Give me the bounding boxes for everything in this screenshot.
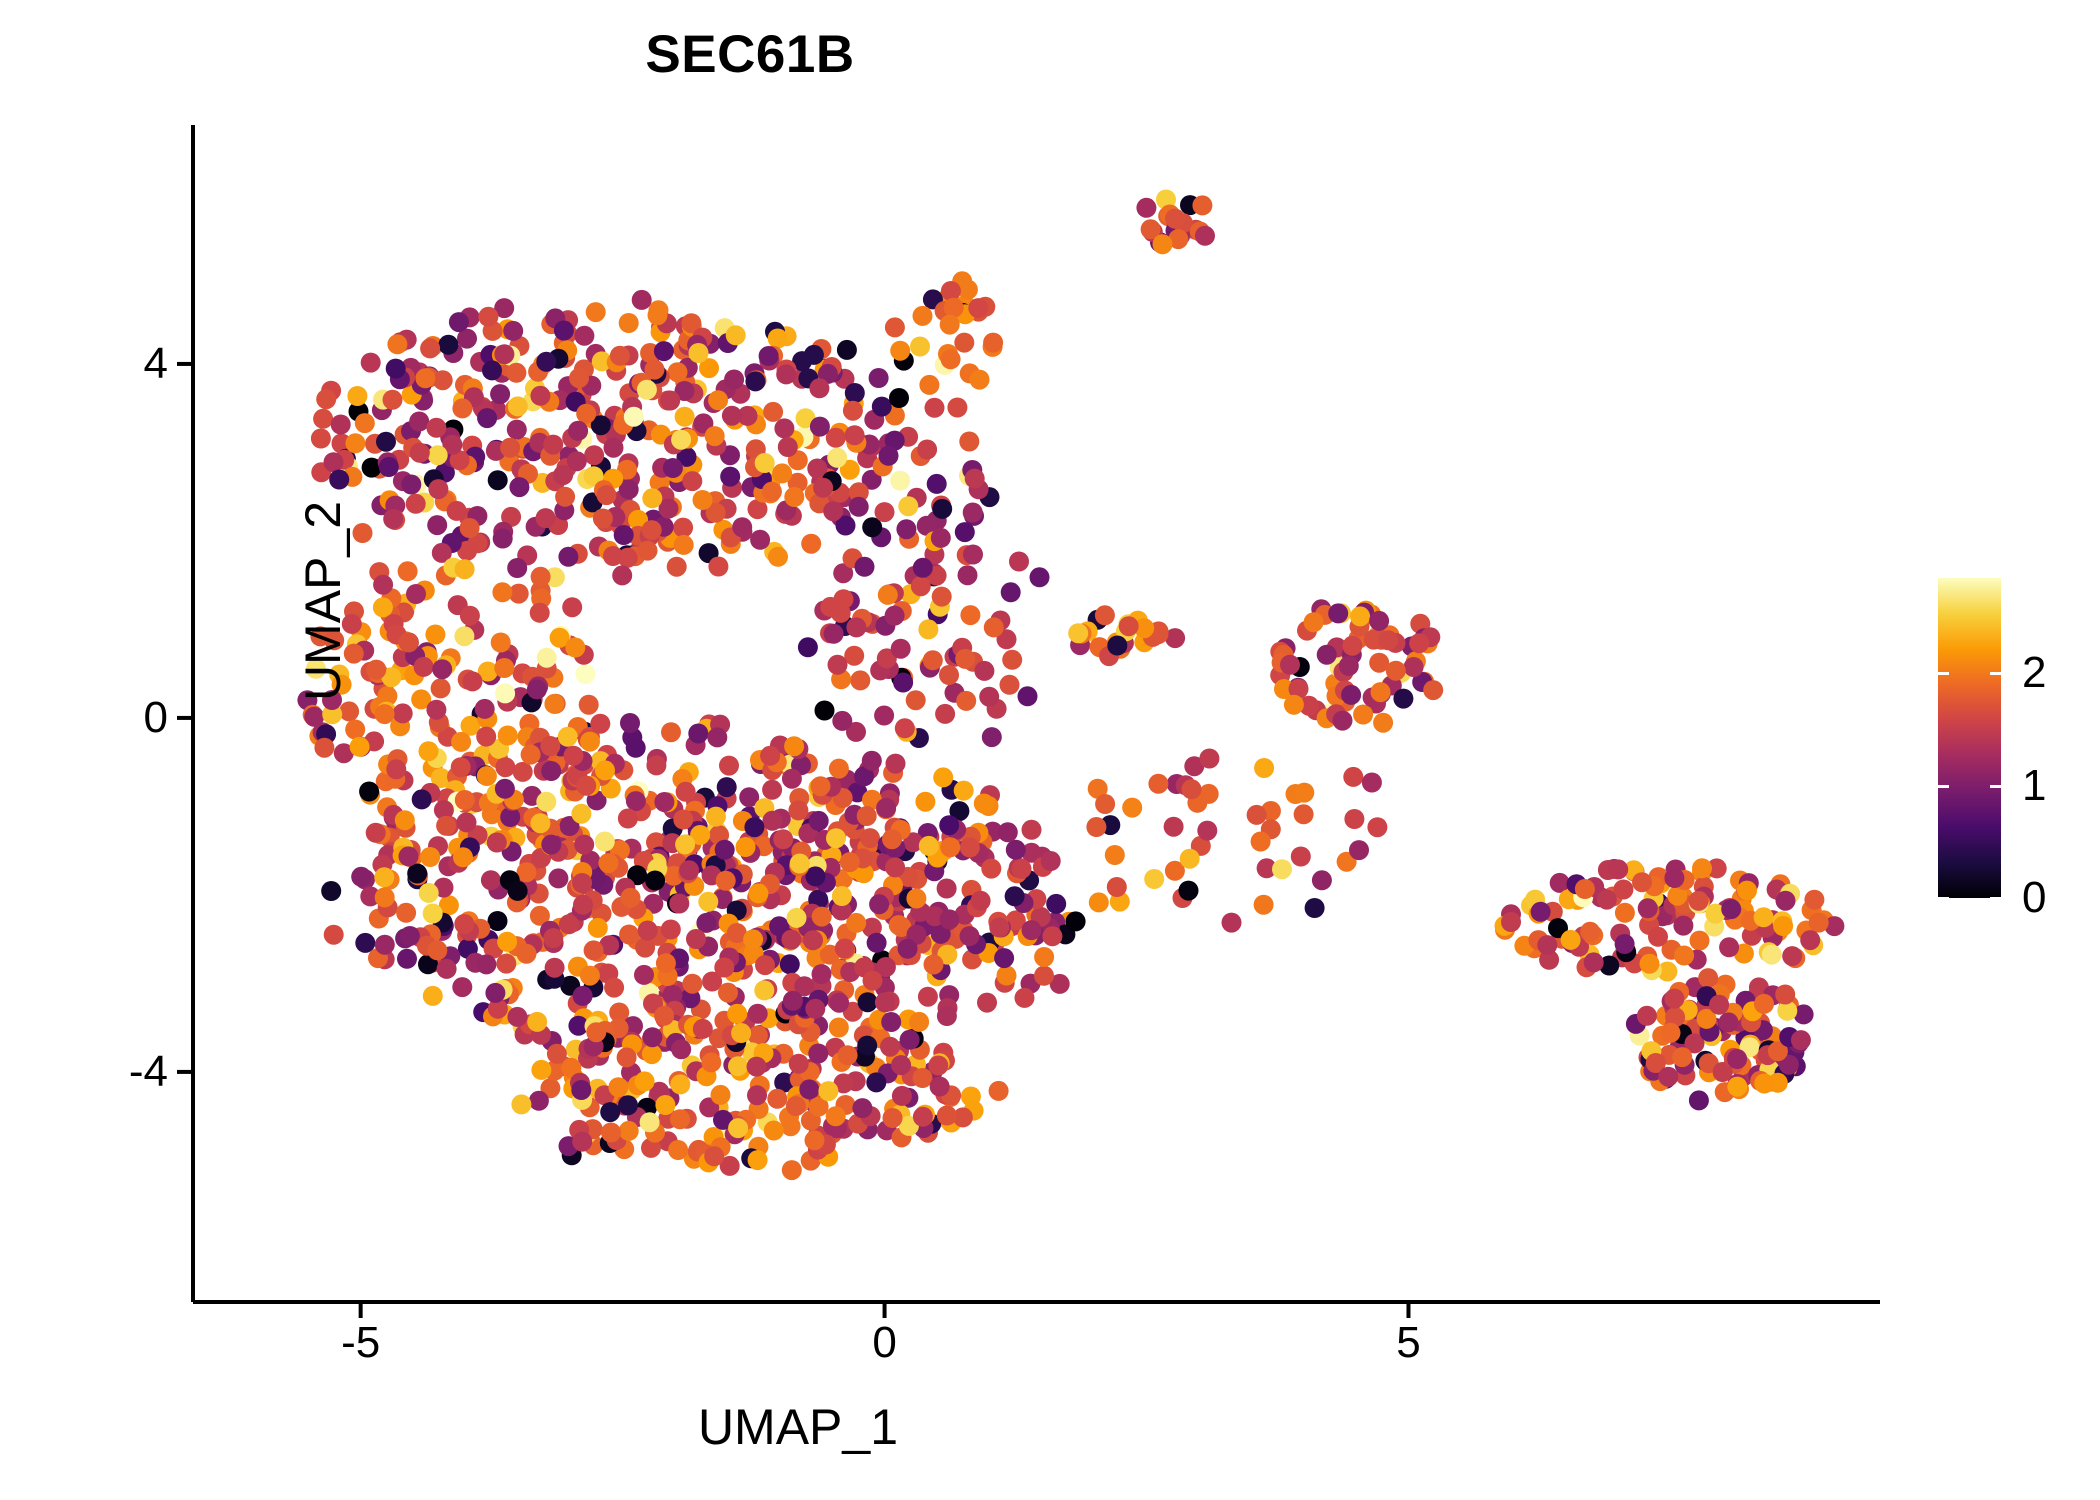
scatter-point <box>593 509 613 529</box>
scatter-point <box>530 603 550 623</box>
scatter-point <box>601 1123 621 1143</box>
scatter-point <box>954 333 974 353</box>
scatter-point <box>768 547 788 567</box>
scatter-point <box>782 1160 802 1180</box>
scatter-point <box>375 935 395 955</box>
scatter-point <box>1312 870 1332 890</box>
scatter-point <box>845 383 865 403</box>
scatter-point <box>862 751 882 771</box>
scatter-point <box>1086 817 1106 837</box>
scatter-point <box>517 944 537 964</box>
scatter-point <box>452 398 472 418</box>
scatter-point <box>1664 868 1684 888</box>
scatter-point <box>1022 820 1042 840</box>
scatter-point <box>781 930 801 950</box>
scatter-point <box>1015 988 1035 1008</box>
scatter-point <box>423 986 443 1006</box>
scatter-point <box>937 879 957 899</box>
scatter-point <box>939 665 959 685</box>
scatter-point <box>1000 675 1020 695</box>
scatter-point <box>477 766 497 786</box>
scatter-point <box>767 1089 787 1109</box>
scatter-point <box>1165 209 1185 229</box>
scatter-point <box>1353 705 1373 725</box>
scatter-point <box>423 904 443 924</box>
scatter-point <box>832 711 852 731</box>
scatter-point <box>1107 636 1127 656</box>
scatter-point <box>714 958 734 978</box>
scatter-point <box>955 522 975 542</box>
scatter-point <box>494 344 514 364</box>
scatter-point <box>818 1081 838 1101</box>
scatter-point <box>989 1081 1009 1101</box>
scatter-point <box>383 509 403 529</box>
y-tick-label-1: 0 <box>144 693 168 743</box>
scatter-point <box>1637 1006 1657 1026</box>
scatter-point <box>1608 859 1628 879</box>
scatter-point <box>670 1074 690 1094</box>
scatter-point <box>428 479 448 499</box>
scatter-point <box>893 673 913 693</box>
scatter-point <box>569 368 589 388</box>
scatter-point <box>1719 1012 1739 1032</box>
scatter-point <box>812 964 832 984</box>
scatter-point <box>1640 954 1660 974</box>
scatter-point <box>670 1109 690 1129</box>
scatter-point <box>668 1140 688 1160</box>
scatter-point <box>1690 931 1710 951</box>
scatter-point <box>366 823 386 843</box>
scatter-point <box>1800 930 1820 950</box>
scatter-point <box>693 1019 713 1039</box>
scatter-point <box>885 317 905 337</box>
scatter-point <box>1737 881 1757 901</box>
scatter-point <box>783 991 803 1011</box>
scatter-point <box>886 754 906 774</box>
scatter-point <box>508 396 528 416</box>
scatter-point <box>693 490 713 510</box>
scatter-point <box>619 313 639 333</box>
scatter-point <box>963 503 983 523</box>
scatter-point <box>778 437 798 457</box>
scatter-point <box>426 700 446 720</box>
scatter-point <box>536 792 556 812</box>
scatter-point <box>811 776 831 796</box>
scatter-point <box>1754 1074 1774 1094</box>
scatter-point <box>511 1094 531 1114</box>
scatter-point <box>717 777 737 797</box>
scatter-point <box>910 337 930 357</box>
scatter-point <box>1367 817 1387 837</box>
scatter-point <box>686 929 706 949</box>
scatter-point <box>1291 847 1311 867</box>
scatter-point <box>604 978 624 998</box>
scatter-point <box>386 359 406 379</box>
scatter-point <box>1661 1023 1681 1043</box>
scatter-point <box>858 992 878 1012</box>
y-axis-label: UMAP_2 <box>294 26 352 1176</box>
scatter-point <box>401 475 421 495</box>
scatter-point <box>1561 930 1581 950</box>
scatter-point <box>829 993 849 1013</box>
scatter-point <box>543 435 563 455</box>
scatter-point <box>983 333 1003 353</box>
scatter-point <box>915 792 935 812</box>
scatter-point <box>614 525 634 545</box>
scatter-point <box>1632 872 1652 892</box>
scatter-point <box>801 534 821 554</box>
scatter-point <box>1182 779 1202 799</box>
scatter-point <box>773 829 793 849</box>
scatter-point <box>398 561 418 581</box>
scatter-point <box>1317 645 1337 665</box>
scatter-point <box>708 390 728 410</box>
scatter-point <box>663 458 683 478</box>
scatter-point <box>584 940 604 960</box>
scatter-point <box>634 965 654 985</box>
legend-tick-label-2: 2 <box>2022 648 2046 698</box>
scatter-point <box>485 983 505 1003</box>
scatter-point <box>375 704 395 724</box>
scatter-point <box>351 867 371 887</box>
scatter-point <box>784 487 804 507</box>
scatter-point <box>1692 858 1712 878</box>
scatter-point <box>981 859 1001 879</box>
scatter-point <box>880 1037 900 1057</box>
scatter-point <box>457 812 477 832</box>
scatter-point <box>454 626 474 646</box>
scatter-point <box>492 582 512 602</box>
scatter-point <box>982 727 1002 747</box>
scatter-point <box>1791 1030 1811 1050</box>
scatter-point <box>598 853 618 873</box>
scatter-point <box>1673 916 1693 936</box>
scatter-point <box>715 840 735 860</box>
scatter-point <box>1009 552 1029 572</box>
scatter-point <box>1005 886 1025 906</box>
scatter-point <box>1776 891 1796 911</box>
scatter-point <box>432 659 452 679</box>
scatter-point <box>1727 1077 1747 1097</box>
scatter-point <box>558 547 578 567</box>
scatter-point <box>455 559 475 579</box>
scatter-point <box>580 732 600 752</box>
scatter-point <box>574 326 594 346</box>
scatter-point <box>555 487 575 507</box>
scatter-point <box>576 404 596 424</box>
scatter-point <box>1409 633 1429 653</box>
scatter-point <box>414 657 434 677</box>
scatter-point <box>728 1056 748 1076</box>
scatter-point <box>497 932 517 952</box>
scatter-point <box>1754 907 1774 927</box>
scatter-point <box>527 1012 547 1032</box>
scatter-point <box>406 494 426 514</box>
scatter-point <box>885 857 905 877</box>
scatter-point <box>772 463 792 483</box>
scatter-point <box>1393 689 1413 709</box>
scatter-point <box>849 497 869 517</box>
scatter-point <box>928 1056 948 1076</box>
scatter-point <box>924 955 944 975</box>
scatter-point <box>931 528 951 548</box>
scatter-point <box>1369 611 1389 631</box>
scatter-point <box>476 727 496 747</box>
scatter-point <box>350 737 370 757</box>
scatter-point <box>562 597 582 617</box>
scatter-point <box>829 1018 849 1038</box>
scatter-point <box>452 977 472 997</box>
scatter-point <box>829 759 849 779</box>
scatter-point <box>558 727 578 747</box>
scatter-point <box>541 761 561 781</box>
scatter-point <box>803 930 823 950</box>
scatter-point <box>998 822 1018 842</box>
scatter-point <box>547 1044 567 1064</box>
scatter-point <box>621 888 641 908</box>
scatter-point <box>654 792 674 812</box>
scatter-point <box>638 921 658 941</box>
scatter-point <box>1068 623 1088 643</box>
scatter-point <box>588 918 608 938</box>
scatter-point <box>656 953 676 973</box>
scatter-point <box>1648 927 1668 947</box>
scatter-point <box>755 453 775 473</box>
scatter-point <box>642 488 662 508</box>
scatter-point <box>845 425 865 445</box>
scatter-point <box>1349 840 1369 860</box>
scatter-point <box>355 413 375 433</box>
scatter-point <box>788 800 808 820</box>
scatter-point <box>575 664 595 684</box>
scatter-point <box>399 846 419 866</box>
scatter-point <box>1030 567 1050 587</box>
scatter-point <box>707 727 727 747</box>
scatter-point <box>1333 711 1353 731</box>
scatter-point <box>762 811 782 831</box>
scatter-point <box>642 1027 662 1047</box>
scatter-point <box>626 738 646 758</box>
scatter-point <box>1034 966 1054 986</box>
x-tick-label-0: -5 <box>341 1318 380 1368</box>
scatter-point <box>958 280 978 300</box>
scatter-point <box>488 911 508 931</box>
scatter-point <box>433 370 453 390</box>
scatter-point <box>487 833 507 853</box>
scatter-point <box>932 587 952 607</box>
scatter-point <box>958 565 978 585</box>
scatter-point <box>810 417 830 437</box>
scatter-point <box>576 776 596 796</box>
x-axis-label: UMAP_1 <box>193 1398 1403 1456</box>
scatter-point <box>823 501 843 521</box>
scatter-point <box>892 1086 912 1106</box>
scatter-point <box>661 722 681 742</box>
scatter-point <box>935 704 955 724</box>
scatter-point <box>671 1039 691 1059</box>
scatter-point <box>1698 968 1718 988</box>
scatter-point <box>891 639 911 659</box>
scatter-point <box>1613 880 1633 900</box>
scatter-point <box>863 971 883 991</box>
scatter-point <box>419 883 439 903</box>
scatter-point <box>427 940 447 960</box>
scatter-point <box>1254 758 1274 778</box>
scatter-point <box>760 746 780 766</box>
scatter-point <box>727 1004 747 1024</box>
scatter-point <box>1107 877 1127 897</box>
scatter-point <box>1531 902 1551 922</box>
scatter-point <box>530 813 550 833</box>
scatter-point <box>875 992 895 1012</box>
scatter-point <box>913 1107 933 1127</box>
scatter-point <box>1066 911 1086 931</box>
x-tick-label-2: 5 <box>1396 1318 1420 1368</box>
legend-tick-mark <box>1938 785 1949 788</box>
scatter-point <box>898 939 918 959</box>
scatter-point <box>1041 851 1061 871</box>
scatter-point <box>689 343 709 363</box>
scatter-point <box>963 545 983 565</box>
scatter-point <box>1584 952 1604 972</box>
scatter-point <box>974 794 994 814</box>
scatter-point <box>1089 892 1109 912</box>
scatter-point <box>1012 859 1032 879</box>
scatter-point <box>784 736 804 756</box>
legend-tick-mark <box>1990 785 2001 788</box>
scatter-point <box>956 691 976 711</box>
scatter-point <box>1247 805 1267 825</box>
scatter-point <box>673 810 693 830</box>
scatter-point <box>428 445 448 465</box>
scatter-point <box>584 445 604 465</box>
scatter-point <box>475 699 495 719</box>
scatter-point <box>1727 1049 1747 1069</box>
scatter-point <box>679 860 699 880</box>
scatter-point <box>898 496 918 516</box>
scatter-point <box>508 881 528 901</box>
scatter-point <box>671 430 691 450</box>
scatter-point <box>493 529 513 549</box>
scatter-point <box>754 980 774 1000</box>
scatter-point <box>521 745 541 765</box>
scatter-point <box>917 440 937 460</box>
scatter-point <box>705 426 725 446</box>
scatter-point <box>396 903 416 923</box>
scatter-point <box>815 701 835 721</box>
scatter-point <box>919 836 939 856</box>
scatter-point <box>882 829 902 849</box>
color-legend-gradient-bar <box>1938 578 2001 898</box>
scatter-point <box>545 958 565 978</box>
scatter-point <box>944 298 964 318</box>
scatter-point <box>748 883 768 903</box>
legend-tick-mark <box>1938 672 1949 675</box>
scatter-point <box>940 837 960 857</box>
scatter-point <box>400 926 420 946</box>
scatter-point <box>503 321 523 341</box>
scatter-point <box>1006 840 1026 860</box>
scatter-point <box>805 999 825 1019</box>
scatter-point <box>883 1108 903 1128</box>
scatter-point <box>876 798 896 818</box>
scatter-point <box>824 624 844 644</box>
scatter-point <box>667 557 687 577</box>
scatter-point <box>855 557 875 577</box>
scatter-point <box>395 810 415 830</box>
scatter-point <box>1144 869 1164 889</box>
scatter-point <box>701 1052 721 1072</box>
scatter-point <box>745 371 765 391</box>
scatter-point <box>790 854 810 874</box>
scatter-point <box>1192 195 1212 215</box>
scatter-point <box>437 959 457 979</box>
scatter-point <box>500 438 520 458</box>
scatter-point <box>449 312 469 332</box>
scatter-point <box>668 362 688 382</box>
scatter-point <box>495 779 515 799</box>
scatter-point <box>832 886 852 906</box>
scatter-point <box>1148 774 1168 794</box>
scatter-point <box>648 305 668 325</box>
scatter-point <box>477 408 497 428</box>
scatter-point <box>906 690 926 710</box>
scatter-point <box>1597 890 1617 910</box>
scatter-point <box>488 470 508 490</box>
scatter-point <box>495 683 515 703</box>
scatter-point <box>506 363 526 383</box>
scatter-point <box>397 949 417 969</box>
scatter-point <box>482 360 502 380</box>
scatter-point <box>536 508 556 528</box>
scatter-point <box>1615 934 1635 954</box>
scatter-point <box>624 407 644 427</box>
scatter-point <box>895 718 915 738</box>
scatter-point <box>645 871 665 891</box>
scatter-point <box>507 420 527 440</box>
scatter-point <box>930 1077 950 1097</box>
scatter-point <box>786 1096 806 1116</box>
scatter-point <box>913 558 933 578</box>
scatter-point <box>872 397 892 417</box>
scatter-point <box>748 1150 768 1170</box>
scatter-point <box>731 1023 751 1043</box>
scatter-point <box>1222 913 1242 933</box>
scatter-point <box>789 1054 809 1074</box>
scatter-point <box>536 352 556 372</box>
scatter-point <box>918 619 938 639</box>
scatter-point <box>574 835 594 855</box>
scatter-point <box>711 1085 731 1105</box>
scatter-point <box>1672 1047 1692 1067</box>
scatter-point <box>420 338 440 358</box>
scatter-point <box>776 364 796 384</box>
scatter-point <box>682 974 702 994</box>
scatter-point <box>635 938 655 958</box>
scatter-point <box>573 895 593 915</box>
scatter-point <box>900 1030 920 1050</box>
scatter-point <box>1638 898 1658 918</box>
scatter-point <box>373 597 393 617</box>
scatter-point <box>454 914 474 934</box>
scatter-point <box>1721 899 1741 919</box>
scatter-point <box>531 567 551 587</box>
scatter-point <box>509 477 529 497</box>
scatter-point <box>747 1085 767 1105</box>
scatter-point <box>455 790 475 810</box>
legend-tick-mark <box>1938 897 1949 900</box>
scatter-point <box>415 368 435 388</box>
